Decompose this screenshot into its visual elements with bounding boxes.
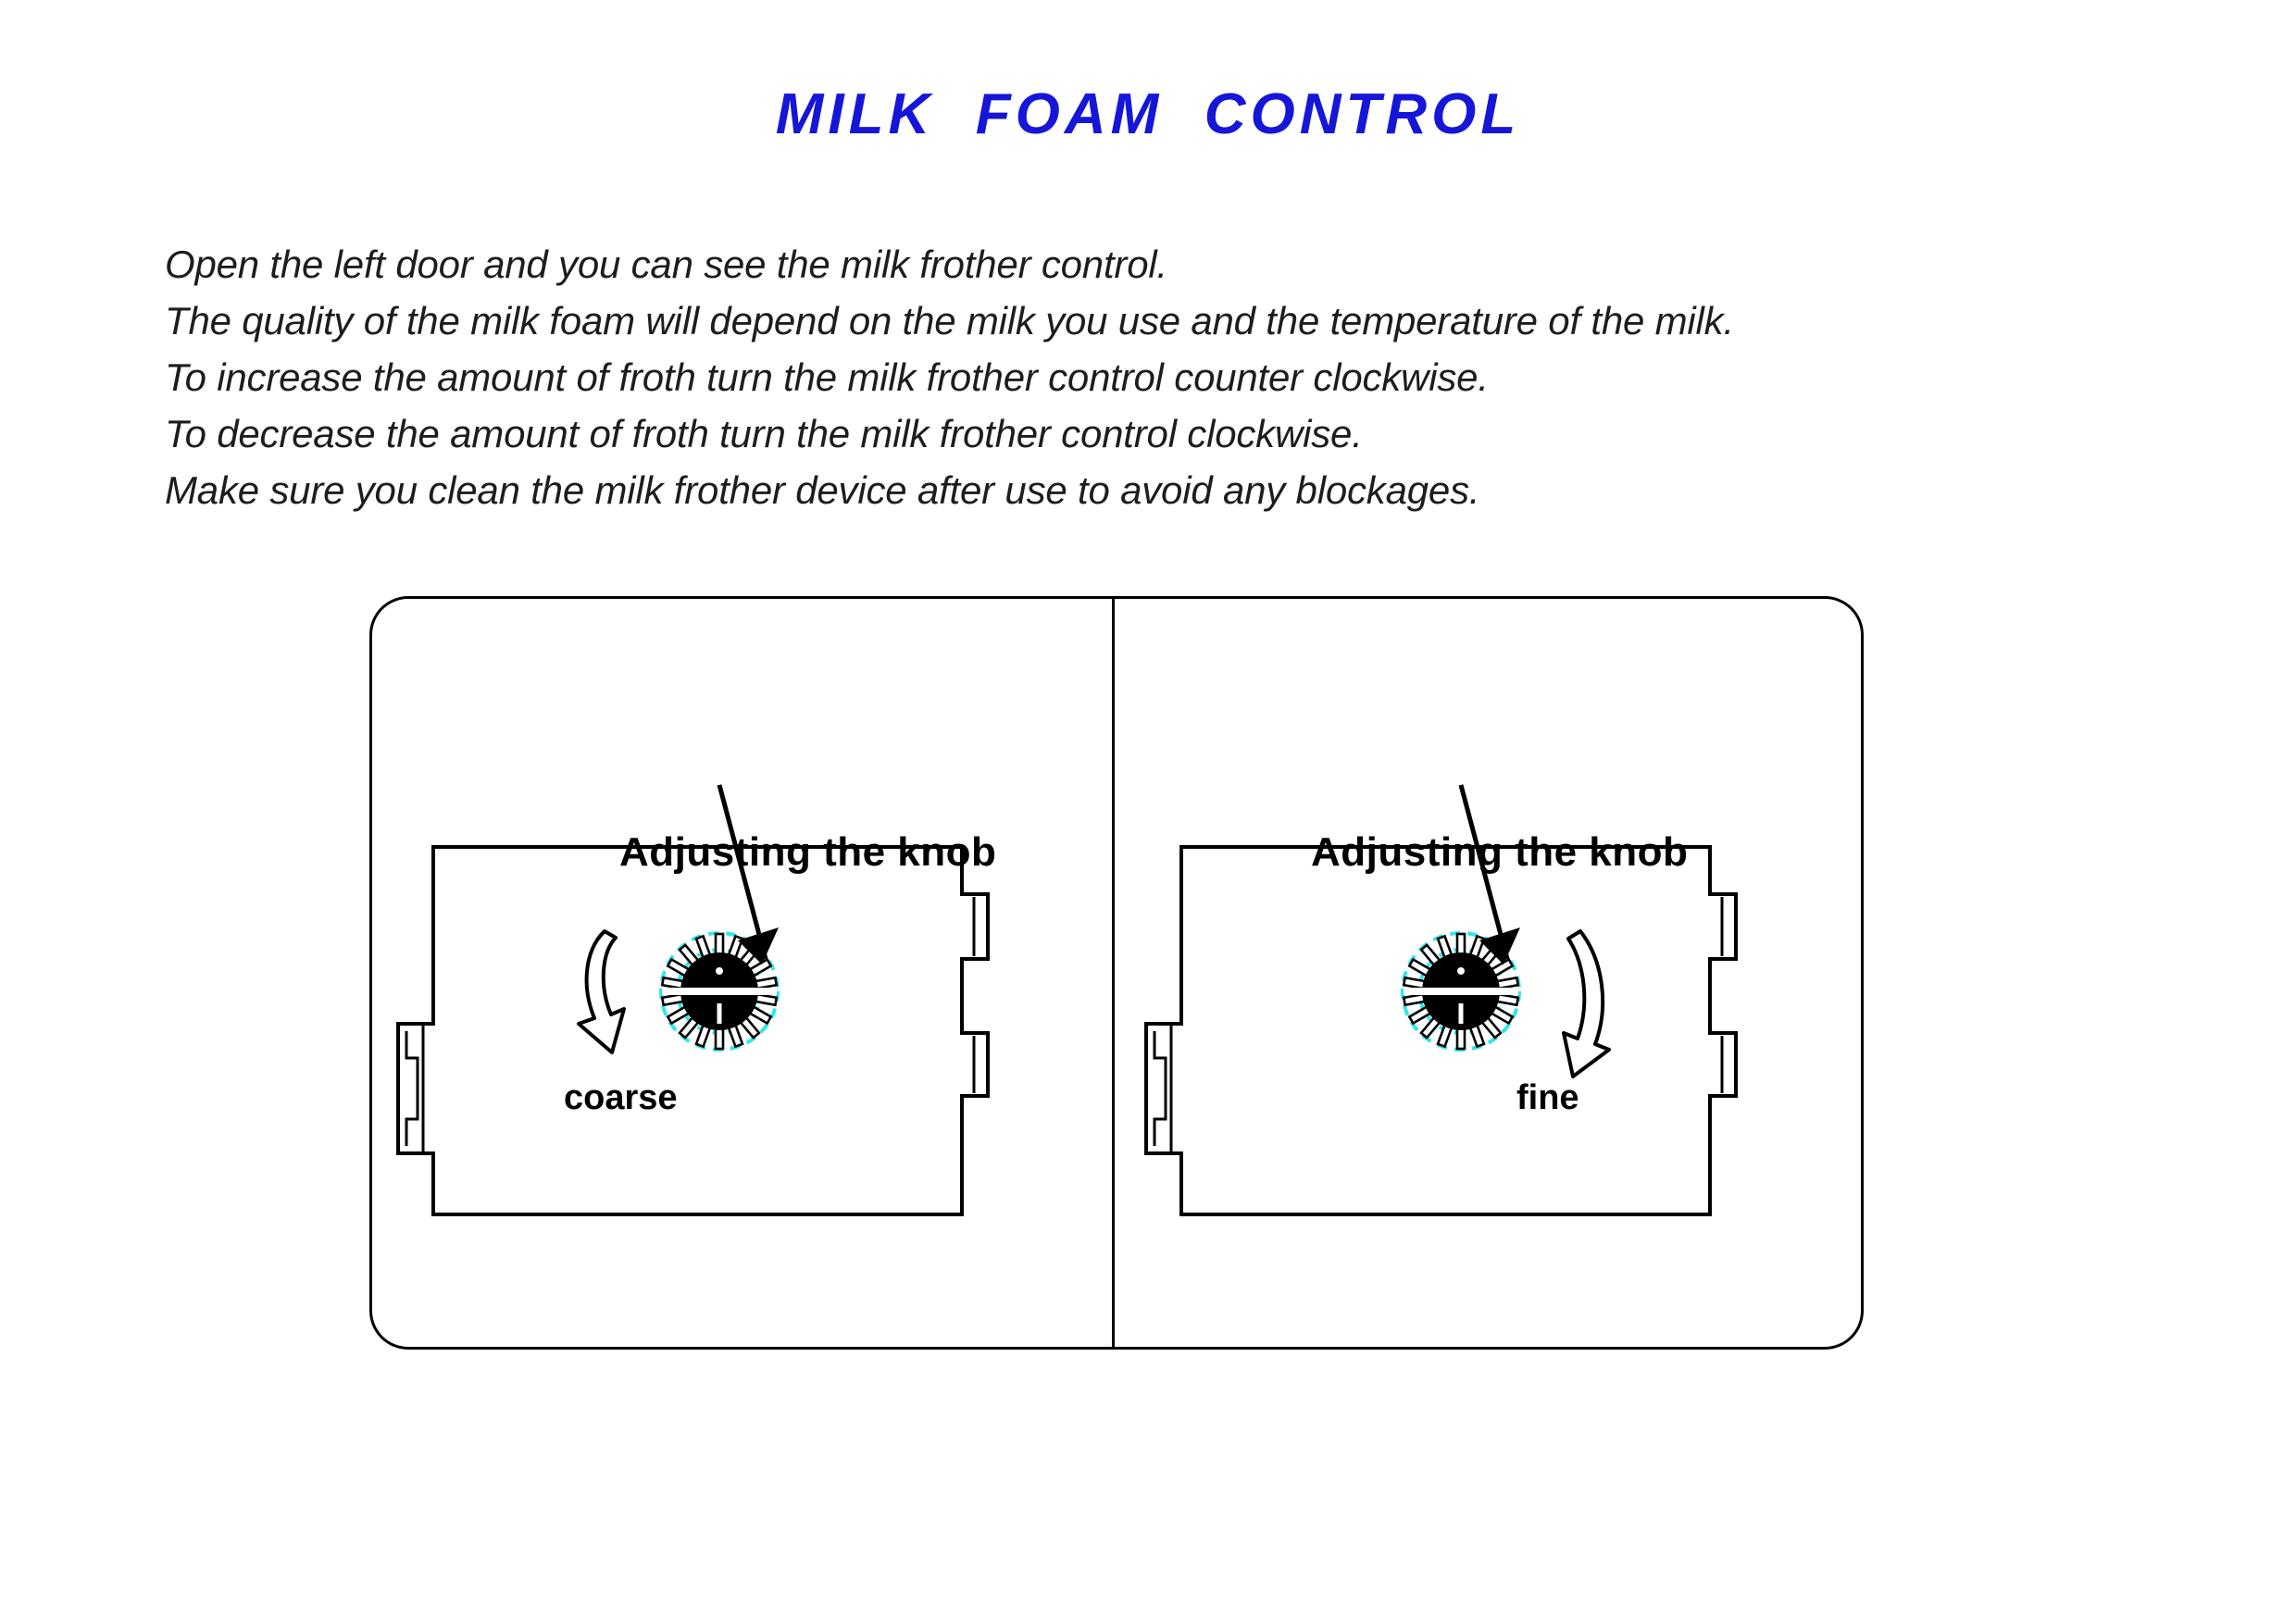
instruction-line-1: Open the left door and you can see the m… <box>165 236 2155 292</box>
instruction-line-2: The quality of the milk foam will depend… <box>165 292 2155 349</box>
instruction-line-5: Make sure you clean the milk frother dev… <box>165 462 2155 518</box>
knob-indicator-tick <box>717 1003 722 1024</box>
knob-slot <box>662 988 777 995</box>
page-title: MILK FOAM CONTROL <box>0 81 2296 147</box>
panel-coarse-drawing <box>369 596 1112 1350</box>
grind-label-coarse: coarse <box>564 1078 678 1118</box>
knob-indicator-dot <box>716 967 723 975</box>
grind-label-fine: fine <box>1516 1078 1579 1118</box>
knob-indicator-dot <box>1457 967 1465 975</box>
machine-body-outline-right <box>1146 847 1736 1214</box>
panel-coarse: Adjusting the knob coarse <box>369 596 1112 1350</box>
machine-body-outline-left <box>398 847 988 1214</box>
instruction-paragraph: Open the left door and you can see the m… <box>165 236 2155 518</box>
instruction-line-3: To increase the amount of froth turn the… <box>165 349 2155 405</box>
instruction-line-4: To decrease the amount of froth turn the… <box>165 405 2155 462</box>
knob-slot <box>1404 988 1518 995</box>
panel-fine: Adjusting the knob fine <box>1115 596 1864 1350</box>
panel-fine-drawing <box>1115 596 1864 1350</box>
knob-caption-coarse: Adjusting the knob <box>619 829 996 876</box>
knob-caption-fine: Adjusting the knob <box>1311 829 1688 876</box>
knob-indicator-tick <box>1459 1003 1464 1024</box>
